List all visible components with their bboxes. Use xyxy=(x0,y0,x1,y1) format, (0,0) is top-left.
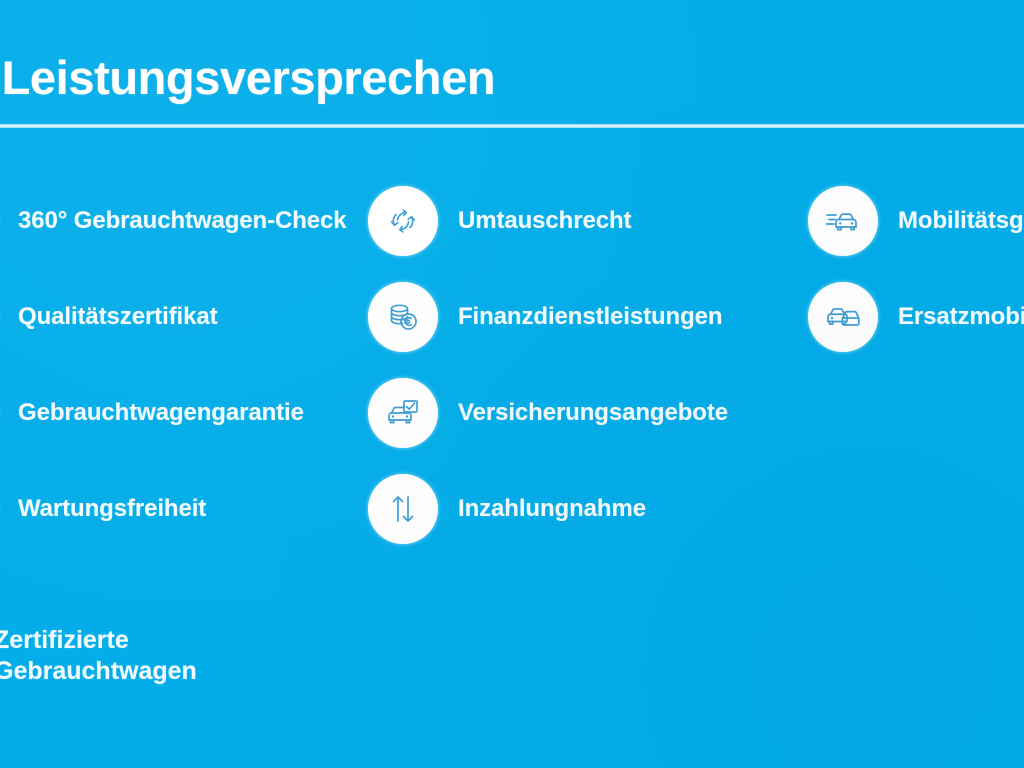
coins-euro-icon xyxy=(368,282,438,352)
car-motion-icon xyxy=(808,186,878,256)
service-label: Ersatzmobilität xyxy=(898,303,1024,331)
service-item-inzahlungnahme[interactable]: Inzahlungnahme xyxy=(368,473,768,545)
service-item-mobilitaetsgarantie[interactable]: Mobilitätsgarantie xyxy=(808,185,1024,257)
certified-used-cars-block: Zertifizierte Gebrauchtwagen xyxy=(0,625,414,687)
up-down-arrows-icon xyxy=(368,474,438,544)
service-label: Gebrauchtwagengarantie xyxy=(18,399,304,427)
service-label: Mobilitätsgarantie xyxy=(898,207,1024,235)
service-item-wartungsfreiheit[interactable]: Wartungsfreiheit xyxy=(0,473,358,545)
service-label: Inzahlungnahme xyxy=(458,495,646,523)
service-item-qualitaetszertifikat[interactable]: Qualitätszertifikat xyxy=(0,281,358,353)
two-cars-icon xyxy=(808,282,878,352)
service-column-middle: Umtauschrecht Finanzdienstleistungen xyxy=(368,185,768,569)
title-divider-rule xyxy=(0,124,1024,128)
service-item-ersatzmobilitaet[interactable]: Ersatzmobilität xyxy=(808,281,1024,353)
footer-line-1: Zertifizierte xyxy=(0,625,414,656)
service-item-finanzdienstleistungen[interactable]: Finanzdienstleistungen xyxy=(368,281,768,353)
footer-line-2: Gebrauchtwagen xyxy=(0,656,414,687)
service-label: Versicherungsangebote xyxy=(458,399,728,427)
service-item-umtauschrecht[interactable]: Umtauschrecht xyxy=(368,185,768,257)
exchange-arrows-icon xyxy=(368,186,438,256)
service-label: Wartungsfreiheit xyxy=(18,495,206,523)
service-column-left: 360° Gebrauchtwagen-Check Qualitätszerti… xyxy=(0,185,358,569)
service-label: Umtauschrecht xyxy=(458,207,631,235)
service-item-versicherungsangebote[interactable]: Versicherungsangebote xyxy=(368,377,768,449)
service-item-gebrauchtwagen-check[interactable]: 360° Gebrauchtwagen-Check xyxy=(0,185,358,257)
car-checklist-icon xyxy=(368,378,438,448)
service-item-gebrauchtwagengarantie[interactable]: Gebrauchtwagengarantie xyxy=(0,377,358,449)
service-label: Finanzdienstleistungen xyxy=(458,303,722,331)
slide-canvas: Unsere Leistungsversprechen 360° Gebrauc… xyxy=(0,0,1024,768)
slide-header: Unsere Leistungsversprechen xyxy=(0,0,1024,130)
page-title: Unsere Leistungsversprechen xyxy=(0,54,495,101)
service-column-right: Mobilitätsgarantie Ersatzmobilität xyxy=(808,185,1024,377)
service-label: Qualitätszertifikat xyxy=(18,303,218,331)
service-label: 360° Gebrauchtwagen-Check xyxy=(18,207,347,235)
